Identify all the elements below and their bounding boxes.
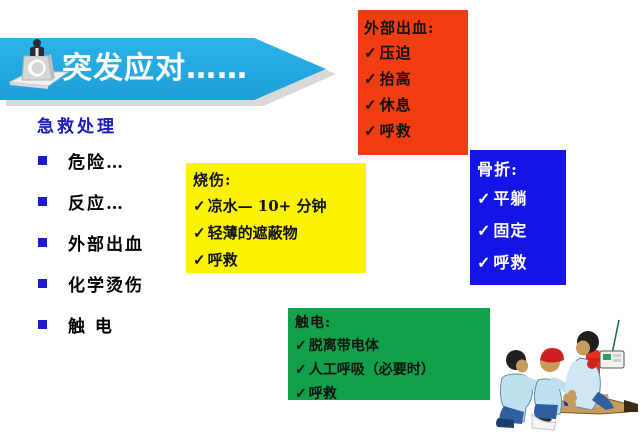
callout-item-label: 抬高 (380, 70, 412, 88)
check-icon: ✓ (477, 215, 491, 247)
list-item-label: 触 电 (68, 312, 114, 337)
callout-item: ✓压迫 (364, 40, 468, 66)
page-title: 突发应对…… (62, 46, 312, 92)
list-item: 触 电 (38, 304, 208, 345)
check-icon: ✓ (295, 358, 307, 382)
callout-box-fracture: 骨折: ✓平躺 ✓固定 ✓呼救 (470, 150, 566, 285)
callout-item: ✓呼救 (477, 247, 566, 279)
check-icon: ✓ (193, 193, 206, 220)
callout-item-label: 呼救 (208, 251, 238, 269)
callout-item-label: 固定 (493, 221, 527, 240)
list-item: 危险… (38, 140, 208, 181)
cpr-first-aid-illustration (488, 306, 640, 431)
check-icon: ✓ (295, 382, 307, 406)
bullet-square-icon (38, 156, 47, 165)
check-icon: ✓ (364, 118, 378, 144)
list-item-label: 反应… (68, 189, 125, 214)
slide-canvas: 突发应对…… 急救处理 危险… 反应… (0, 0, 640, 438)
bullet-square-icon (38, 320, 47, 329)
podium-speaker-icon (8, 34, 70, 92)
callout-item: ✓呼救 (364, 118, 468, 144)
callout-item: ✓呼救 (295, 382, 490, 406)
callout-item: ✓轻薄的遮蔽物 (193, 220, 366, 247)
callout-item: ✓凉水— 10+ 分钟 (193, 193, 366, 220)
callout-item-label: 平躺 (493, 189, 527, 208)
callout-title: 外部出血: (364, 16, 468, 40)
bullet-square-icon (38, 279, 47, 288)
bullet-square-icon (38, 238, 47, 247)
check-icon: ✓ (477, 247, 491, 279)
check-icon: ✓ (193, 247, 206, 274)
list-item: 反应… (38, 181, 208, 222)
callout-item: ✓呼救 (193, 247, 366, 274)
check-icon: ✓ (193, 220, 206, 247)
callout-item-label: 轻薄的遮蔽物 (208, 224, 298, 242)
list-item-label: 危险… (68, 148, 125, 173)
section-subtitle: 急救处理 (37, 112, 117, 137)
callout-item-label: 休息 (380, 96, 412, 114)
check-icon: ✓ (364, 40, 378, 66)
callout-item: ✓脱离带电体 (295, 334, 490, 358)
first-aid-bullet-list: 危险… 反应… 外部出血 化学烫伤 触 电 (38, 140, 208, 345)
list-item-label: 外部出血 (68, 230, 144, 255)
callout-box-electric-shock: 触电: ✓脱离带电体 ✓人工呼吸（必要时） ✓呼救 (288, 308, 490, 400)
callout-item-label: 呼救 (380, 122, 412, 140)
check-icon: ✓ (477, 183, 491, 215)
list-item: 化学烫伤 (38, 263, 208, 304)
callout-item-label: 凉水— 10+ 分钟 (208, 197, 327, 215)
callout-item: ✓固定 (477, 215, 566, 247)
callout-item-label: 呼救 (493, 253, 527, 272)
list-item: 外部出血 (38, 222, 208, 263)
callout-box-bleeding: 外部出血: ✓压迫 ✓抬高 ✓休息 ✓呼救 (358, 10, 468, 155)
callout-title: 触电: (295, 312, 490, 334)
callout-item-label: 呼救 (309, 386, 337, 402)
callout-item: ✓休息 (364, 92, 468, 118)
callout-item: ✓平躺 (477, 183, 566, 215)
check-icon: ✓ (364, 66, 378, 92)
check-icon: ✓ (295, 334, 307, 358)
callout-item: ✓抬高 (364, 66, 468, 92)
callout-item-label: 人工呼吸（必要时） (309, 362, 435, 378)
bullet-square-icon (38, 197, 47, 206)
callout-box-burns: 烧伤: ✓凉水— 10+ 分钟 ✓轻薄的遮蔽物 ✓呼救 (186, 163, 366, 273)
list-item-label: 化学烫伤 (68, 271, 144, 296)
callout-item-label: 脱离带电体 (309, 338, 379, 354)
callout-item-label: 压迫 (380, 44, 412, 62)
callout-item: ✓人工呼吸（必要时） (295, 358, 490, 382)
callout-title: 骨折: (477, 156, 566, 183)
callout-title: 烧伤: (193, 168, 366, 193)
check-icon: ✓ (364, 92, 378, 118)
